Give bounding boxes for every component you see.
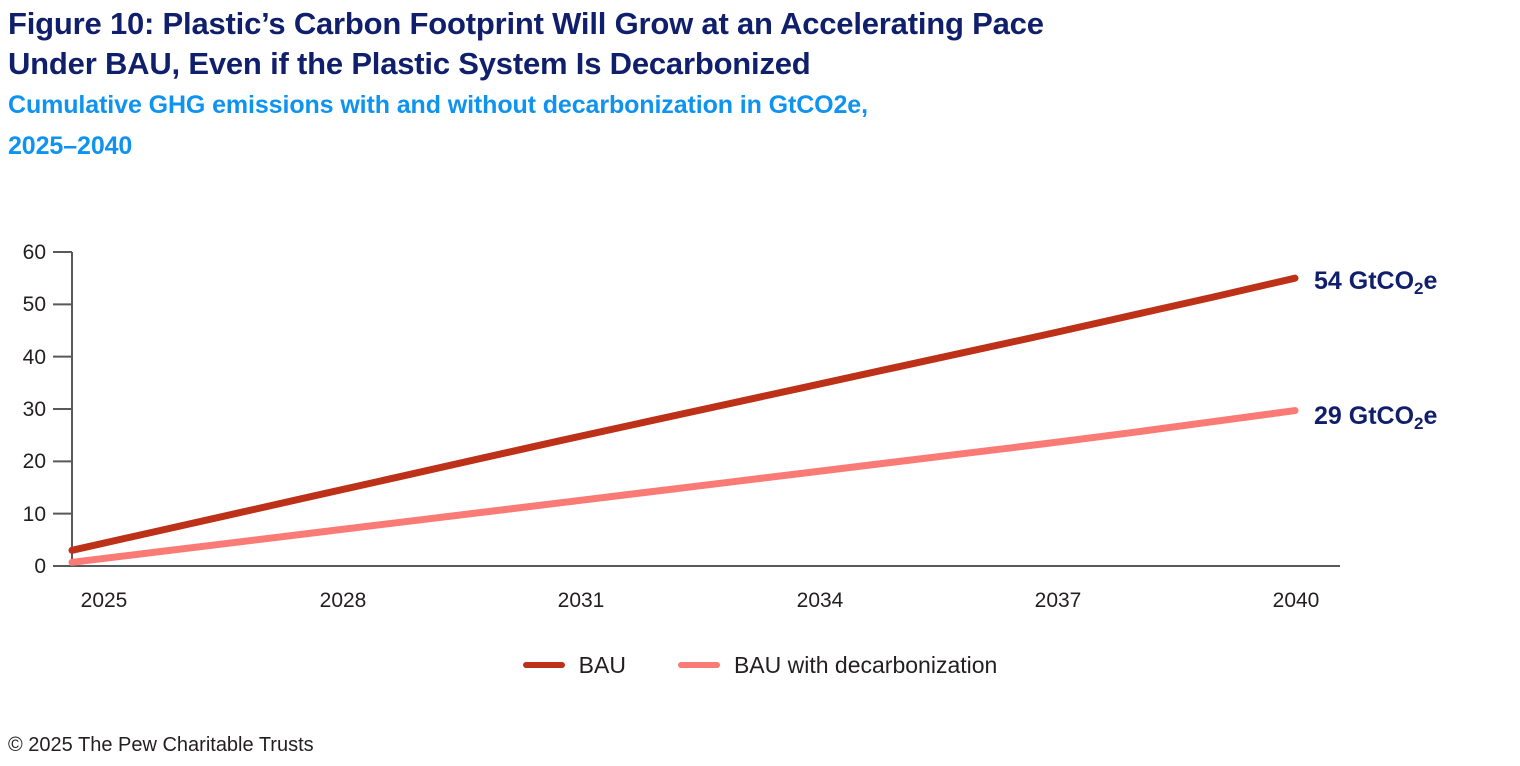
x-tick-label: 2040 (1236, 590, 1356, 611)
copyright-footer: © 2025 The Pew Charitable Trusts (8, 733, 314, 757)
figure-title-line-1: Figure 10: Plastic’s Carbon Footprint Wi… (8, 4, 1508, 44)
figure-title-line-2: Under BAU, Even if the Plastic System Is… (8, 44, 1508, 84)
x-tick-label: 2028 (283, 590, 403, 611)
decarb-end-label: 29 GtCO2e (1314, 404, 1437, 431)
bau-end-unit-post: e (1424, 267, 1438, 295)
legend-swatch-icon (678, 662, 720, 668)
y-tick-label: 40 (2, 347, 46, 368)
y-tick-label: 0 (2, 556, 46, 577)
x-tick-label: 2037 (998, 590, 1118, 611)
bau-end-subscript: 2 (1414, 279, 1423, 298)
legend-item-bau[interactable]: BAU (523, 654, 626, 677)
line-chart: 60 50 40 30 20 10 0 2025 2028 2031 2034 … (0, 225, 1520, 645)
chart-series (72, 278, 1295, 562)
legend-swatch-icon (523, 662, 565, 668)
decarb-end-unit-pre: GtCO (1342, 402, 1414, 430)
bau-end-value: 54 (1314, 267, 1342, 295)
series-line-bau-decarbonization (72, 411, 1295, 563)
decarb-end-subscript: 2 (1414, 414, 1423, 433)
decarb-end-unit-post: e (1424, 402, 1438, 430)
chart-plot-area (0, 225, 1520, 645)
decarb-end-value: 29 (1314, 402, 1342, 430)
title-block: Figure 10: Plastic’s Carbon Footprint Wi… (8, 4, 1508, 166)
y-tick-label: 10 (2, 504, 46, 525)
y-tick-label: 60 (2, 242, 46, 263)
y-tick-label: 20 (2, 451, 46, 472)
legend-item-bau-decarbonization[interactable]: BAU with decarbonization (678, 654, 997, 677)
legend-label: BAU (579, 654, 626, 677)
x-tick-label: 2034 (760, 590, 880, 611)
legend-label: BAU with decarbonization (734, 654, 997, 677)
y-tick-label: 30 (2, 399, 46, 420)
bau-end-label: 54 GtCO2e (1314, 269, 1437, 296)
figure-subtitle-line-1: Cumulative GHG emissions with and withou… (8, 84, 1508, 125)
series-line-bau (72, 278, 1295, 550)
bau-end-unit-pre: GtCO (1342, 267, 1414, 295)
y-tick-label: 50 (2, 294, 46, 315)
x-tick-label: 2025 (44, 590, 164, 611)
chart-legend: BAU BAU with decarbonization (0, 645, 1520, 685)
x-tick-label: 2031 (521, 590, 641, 611)
figure-subtitle-line-2: 2025–2040 (8, 125, 1508, 166)
